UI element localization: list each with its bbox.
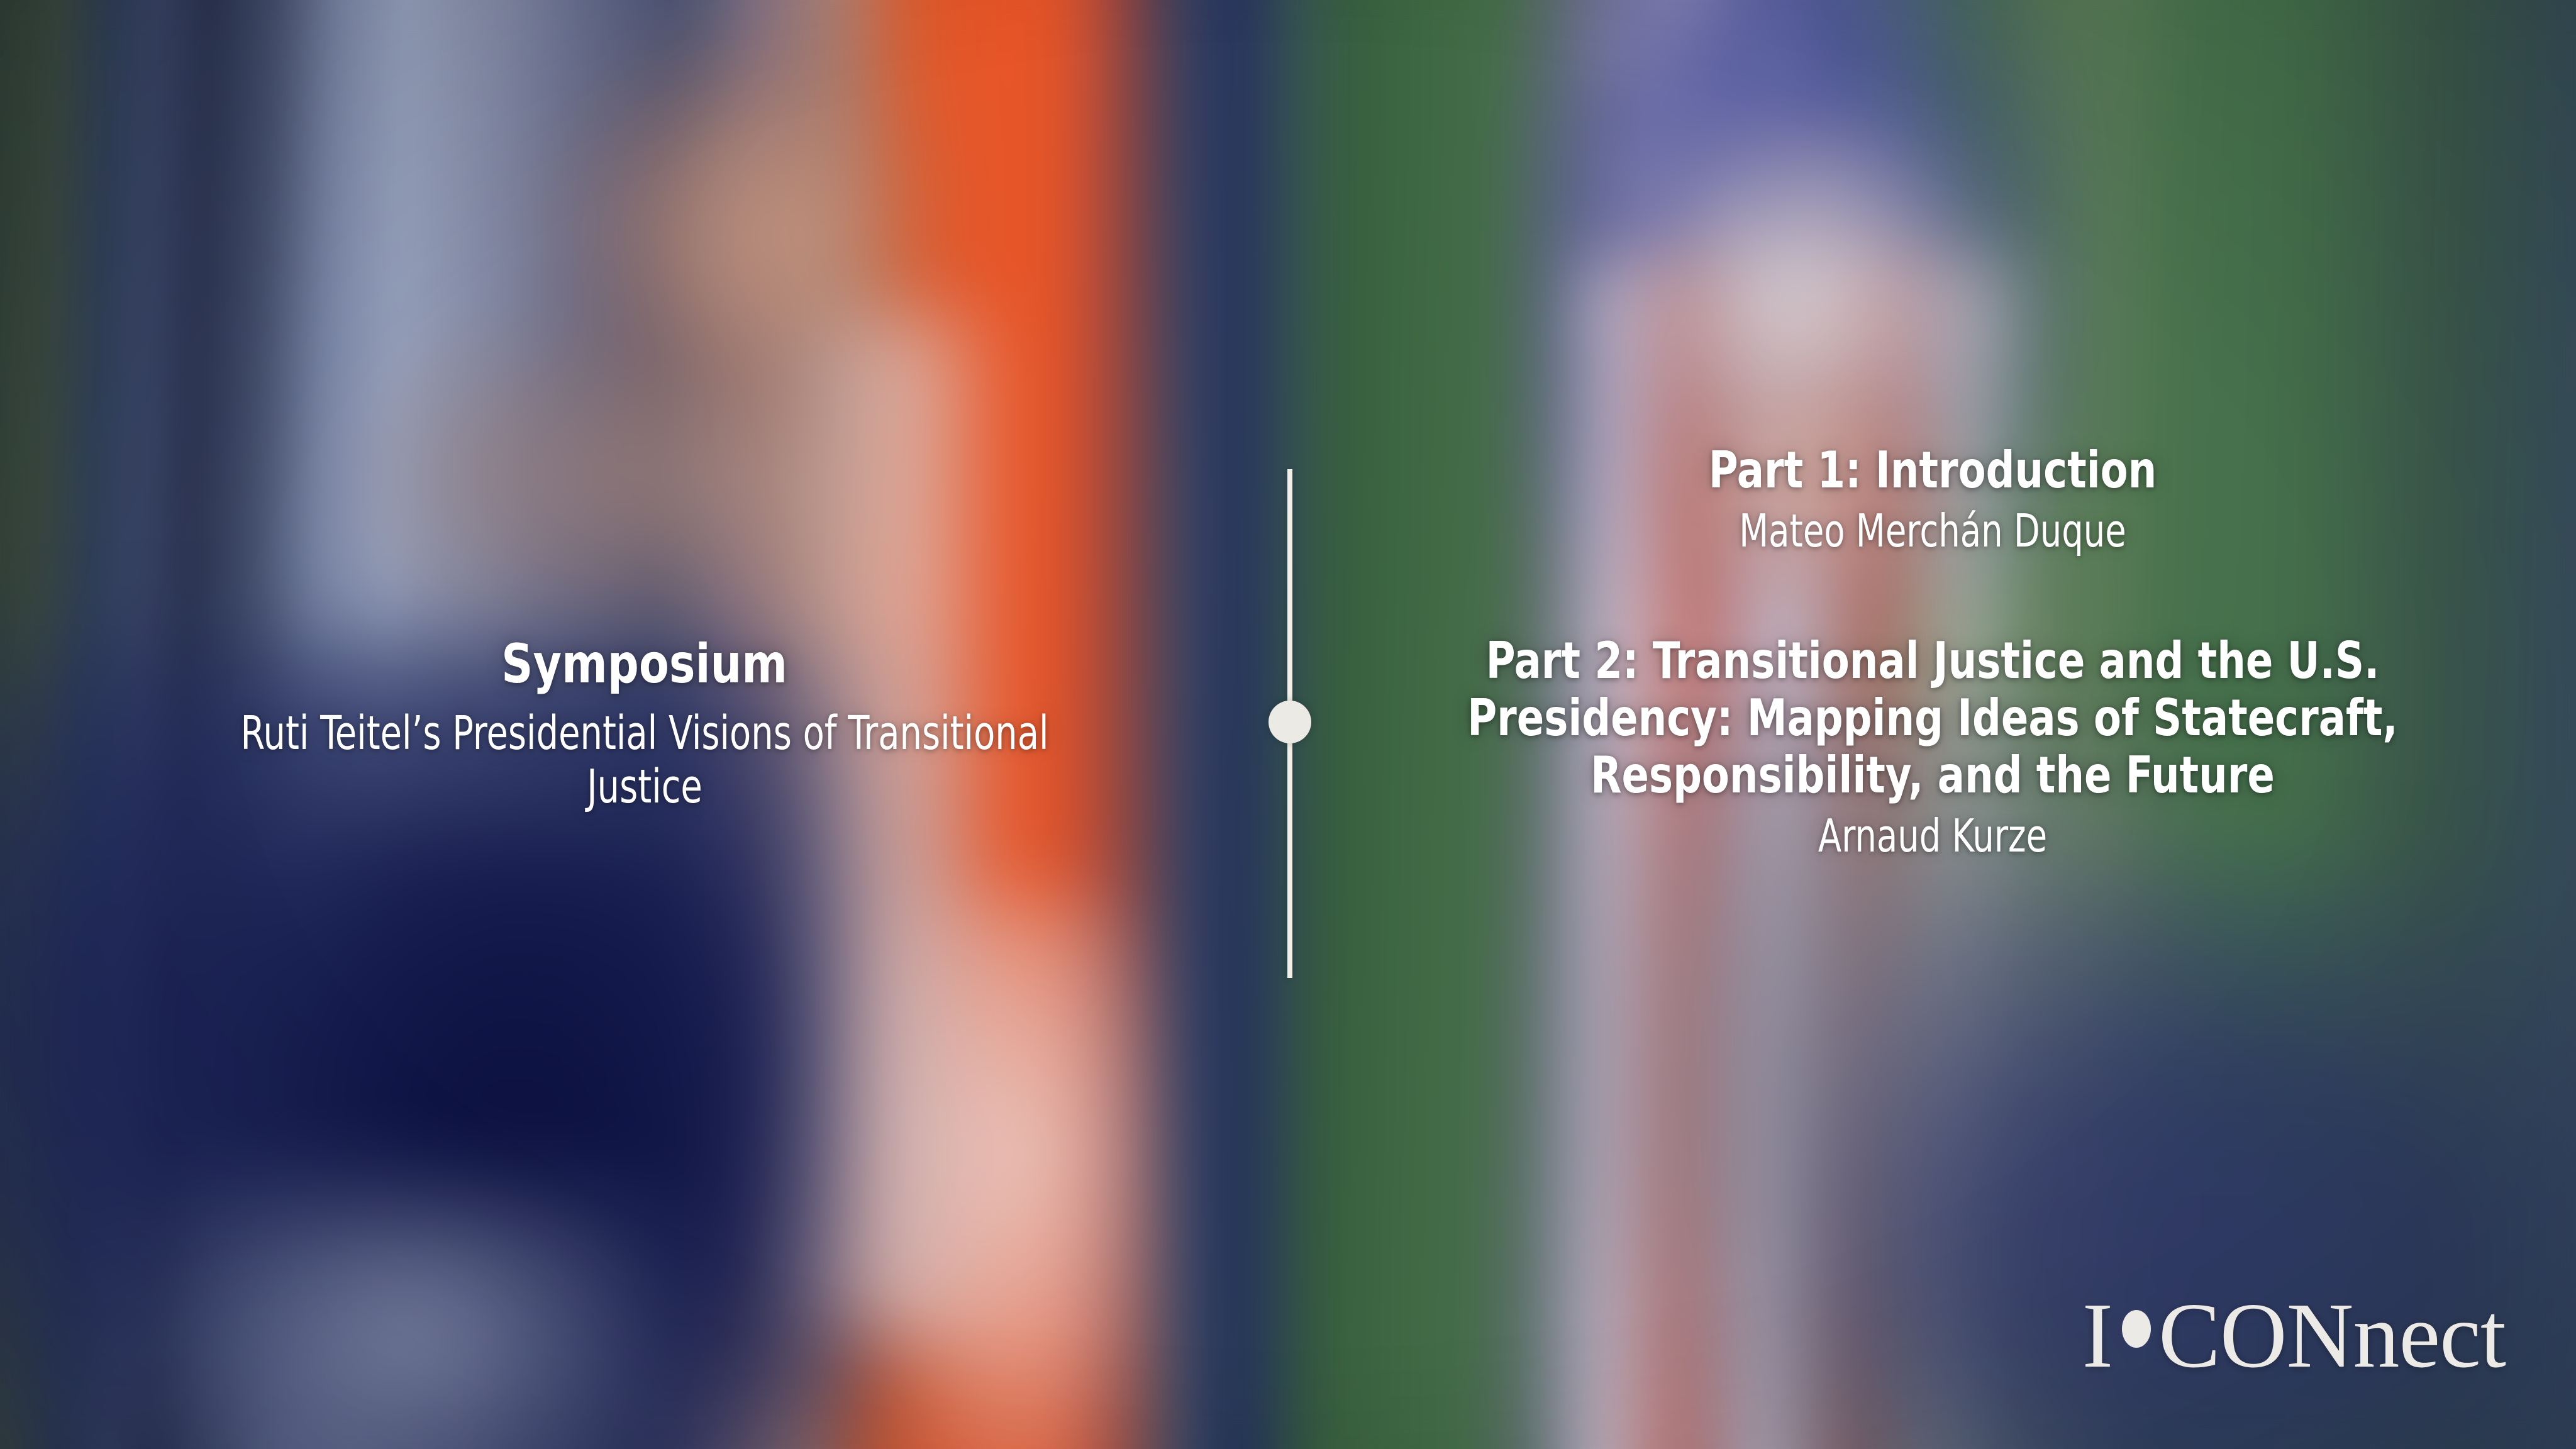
vertical-divider — [1285, 469, 1294, 978]
logo-tail: nect — [2353, 1293, 2506, 1379]
symposium-subtitle: Ruti Teitel’s Presidential Visions of Tr… — [233, 707, 1057, 813]
program-part-1: Part 1: Introduction Mateo Merchán Duque — [1365, 441, 2501, 558]
slide-stage: Symposium Ruti Teitel’s Presidential Vis… — [0, 0, 2576, 1449]
part-2-title: Part 2: Transitional Justice and the U.S… — [1427, 632, 2438, 804]
logo-bullet-icon — [2122, 1310, 2151, 1348]
iconnect-logo: I CON nect — [2082, 1293, 2506, 1379]
part-1-speaker: Mateo Merchán Duque — [1455, 505, 2409, 558]
slide-content: Symposium Ruti Teitel’s Presidential Vis… — [0, 0, 2576, 1449]
part-1-title: Part 1: Introduction — [1427, 441, 2438, 499]
divider-dot-icon — [1269, 701, 1311, 743]
logo-lead-letter: I — [2082, 1293, 2113, 1379]
logo-caps: CON — [2158, 1293, 2353, 1379]
part-2-speaker: Arnaud Kurze — [1455, 810, 2409, 863]
program-part-2: Part 2: Transitional Justice and the U.S… — [1365, 632, 2501, 863]
left-title-panel: Symposium Ruti Teitel’s Presidential Vis… — [0, 0, 1289, 1449]
right-program-panel: Part 1: Introduction Mateo Merchán Duque… — [1289, 0, 2576, 1449]
symposium-title: Symposium — [502, 636, 788, 693]
